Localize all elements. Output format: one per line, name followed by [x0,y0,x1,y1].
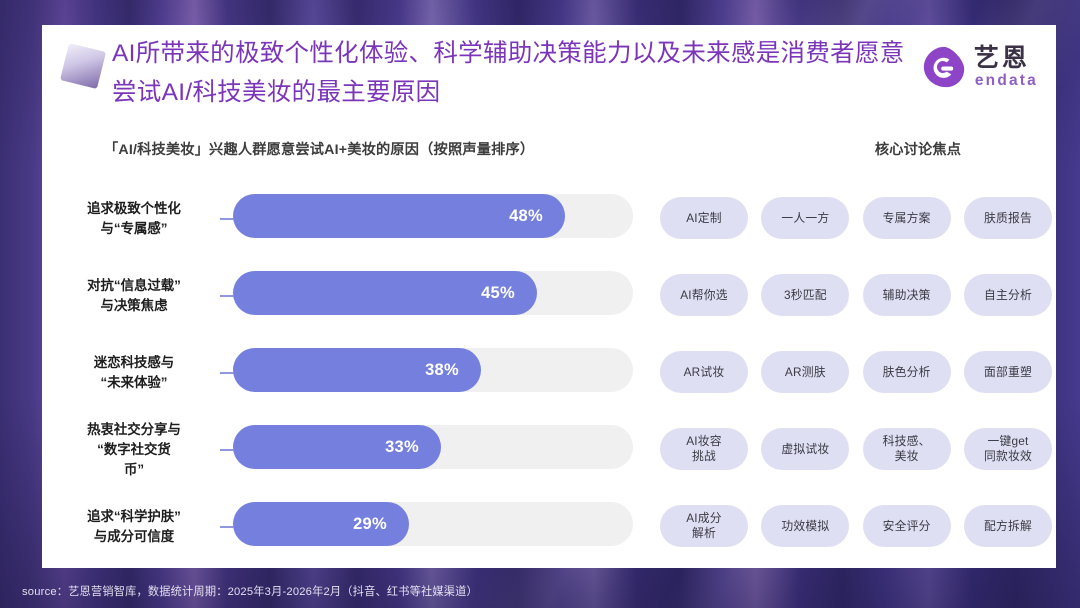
topic-pill-line: 肤色分析 [883,365,931,380]
chart-row: 追求“科学护肤”与成分可信度29%AI成分解析功效模拟安全评分配方拆解 [42,488,1056,565]
row-label-line: 与“专属感” [101,219,168,239]
bar-value-label: 33% [385,438,441,457]
topic-pill[interactable]: AI定制 [660,197,748,239]
topic-pill-line: AI帮你选 [680,288,728,303]
chart-row: 热衷社交分享与“数字社交货币”33%AI妆容挑战虚拟试妆科技感、美妆一键get同… [42,411,1056,488]
bar-fill: 33% [233,425,441,469]
topic-pill[interactable]: AR测肤 [761,351,849,393]
brand-logo: 艺恩 endata [922,45,1038,89]
logo-wordmark: 艺恩 endata [974,46,1038,89]
topic-pill[interactable]: 肤质报告 [964,197,1052,239]
row-label-line: “未来体验” [101,373,168,393]
topic-pill-line: 功效模拟 [781,519,829,534]
topic-pill-line: 一键get [987,434,1028,449]
bar-value-label: 48% [509,207,565,226]
row-label: 热衷社交分享与“数字社交货币” [48,411,220,488]
row-label-line: 币” [124,460,144,480]
topic-pill[interactable]: AR试妆 [660,351,748,393]
row-label-line: 迷恋科技感与 [94,353,174,373]
row-label-line: 与决策焦虑 [101,296,168,316]
topic-pill[interactable]: 虚拟试妆 [761,428,849,470]
topic-pill-group: AI妆容挑战虚拟试妆科技感、美妆一键get同款妆效 [660,419,1052,479]
topic-pill[interactable]: 面部重塑 [964,351,1052,393]
topic-pill-line: 自主分析 [984,288,1032,303]
topic-pill-line: AI定制 [686,211,722,226]
topic-pill[interactable]: 功效模拟 [761,505,849,547]
topic-pill[interactable]: 配方拆解 [964,505,1052,547]
row-label-line: 与成分可信度 [94,527,174,547]
topic-pill-line: 肤质报告 [984,211,1032,226]
topic-pill-line: 配方拆解 [984,519,1032,534]
bar-value-label: 45% [481,284,537,303]
topic-pill[interactable]: 一键get同款妆效 [964,428,1052,470]
row-label-line: 追求“科学护肤” [87,507,181,527]
left-column-heading: 「AI/科技美妆」兴趣人群愿意尝试AI+美妆的原因（按照声量排序） [104,139,534,159]
topic-pill-line: 安全评分 [883,519,931,534]
bar-value-label: 38% [425,361,481,380]
bar-fill: 29% [233,502,409,546]
topic-pill-line: 美妆 [895,449,919,464]
topic-pill-group: AI帮你选3秒匹配辅助决策自主分析 [660,265,1052,325]
bar-fill: 48% [233,194,565,238]
chart-rows: 追求极致个性化与“专属感”48%AI定制一人一方专属方案肤质报告对抗“信息过载”… [42,180,1056,565]
endata-logo-icon [922,45,966,89]
topic-pill-line: 辅助决策 [883,288,931,303]
topic-pill[interactable]: 3秒匹配 [761,274,849,316]
topic-pill-line: 专属方案 [883,211,931,226]
topic-pill-line: AI成分 [686,511,722,526]
page-title: AI所带来的极致个性化体验、科学辅助决策能力以及未来感是消费者愿意尝试AI/科技… [112,34,912,112]
bar-track: 48% [233,194,633,238]
topic-pill-line: 解析 [692,526,716,541]
row-label-line: 对抗“信息过载” [87,276,181,296]
topic-pill-group: AI定制一人一方专属方案肤质报告 [660,188,1052,248]
chart-row: 追求极致个性化与“专属感”48%AI定制一人一方专属方案肤质报告 [42,180,1056,257]
topic-pill[interactable]: 肤色分析 [863,351,951,393]
topic-pill-group: AR试妆AR测肤肤色分析面部重塑 [660,342,1052,402]
topic-pill[interactable]: 辅助决策 [863,274,951,316]
slide-card: AI所带来的极致个性化体验、科学辅助决策能力以及未来感是消费者愿意尝试AI/科技… [42,25,1056,568]
bar-value-label: 29% [353,515,409,534]
topic-pill[interactable]: AI成分解析 [660,505,748,547]
source-footnote: source：艺恩营销智库，数据统计周期：2025年3月-2026年2月（抖音、… [22,583,478,599]
bar-fill: 38% [233,348,481,392]
bar-track: 38% [233,348,633,392]
topic-pill-line: AI妆容 [686,434,722,449]
topic-pill[interactable]: 专属方案 [863,197,951,239]
bar-track: 33% [233,425,633,469]
row-label: 迷恋科技感与“未来体验” [48,334,220,411]
topic-pill-line: 科技感、 [883,434,931,449]
topic-pill[interactable]: AI帮你选 [660,274,748,316]
topic-pill-line: 虚拟试妆 [781,442,829,457]
row-label: 对抗“信息过载”与决策焦虑 [48,257,220,334]
topic-pill[interactable]: 安全评分 [863,505,951,547]
row-label-line: 追求极致个性化 [87,199,181,219]
topic-pill-line: 同款妆效 [984,449,1032,464]
logo-chinese-name: 艺恩 [974,46,1038,71]
row-label: 追求“科学护肤”与成分可信度 [48,488,220,565]
topic-pill-line: 3秒匹配 [784,288,827,303]
bar-track: 29% [233,502,633,546]
topic-pill-group: AI成分解析功效模拟安全评分配方拆解 [660,496,1052,556]
row-label-line: 热衷社交分享与 [87,420,181,440]
topic-pill-line: AR测肤 [785,365,826,380]
right-column-heading: 核心讨论焦点 [794,139,1042,159]
bar-track: 45% [233,271,633,315]
row-label-line: “数字社交货 [97,440,171,460]
row-label: 追求极致个性化与“专属感” [48,180,220,257]
diamond-decoration-icon [60,43,106,89]
topic-pill[interactable]: 科技感、美妆 [863,428,951,470]
topic-pill[interactable]: AI妆容挑战 [660,428,748,470]
slide-header: AI所带来的极致个性化体验、科学辅助决策能力以及未来感是消费者愿意尝试AI/科技… [42,25,1056,125]
chart-row: 迷恋科技感与“未来体验”38%AR试妆AR测肤肤色分析面部重塑 [42,334,1056,411]
topic-pill-line: 挑战 [692,449,716,464]
bar-fill: 45% [233,271,537,315]
logo-english-name: endata [975,73,1038,89]
topic-pill-line: 一人一方 [781,211,829,226]
topic-pill-line: AR试妆 [684,365,725,380]
topic-pill[interactable]: 自主分析 [964,274,1052,316]
topic-pill-line: 面部重塑 [984,365,1032,380]
topic-pill[interactable]: 一人一方 [761,197,849,239]
chart-row: 对抗“信息过载”与决策焦虑45%AI帮你选3秒匹配辅助决策自主分析 [42,257,1056,334]
